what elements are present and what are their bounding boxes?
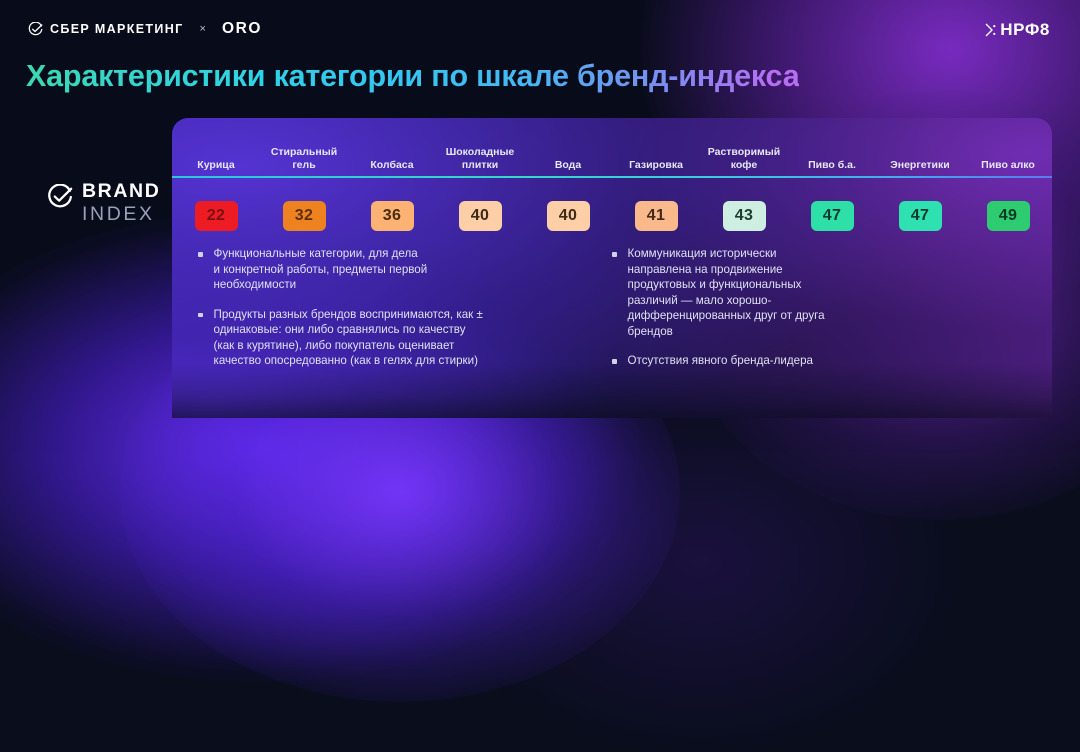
bullet-dot-icon — [612, 359, 617, 364]
category-label: Курица — [197, 159, 234, 172]
score-badge-cell: 43 — [700, 196, 788, 236]
score-badge-row: 22323640404143474749 — [172, 196, 1052, 236]
check-circle-icon — [47, 184, 73, 210]
slide-header: СБЕР МАРКЕТИНГ × ORO НРФ8 — [0, 0, 1080, 62]
score-badge-cell: 32 — [260, 196, 348, 236]
score-badge-cell: 22 — [172, 196, 260, 236]
category-header-cell: Стиральный гель — [260, 118, 348, 176]
category-label: Энергетики — [890, 159, 949, 172]
insights-column-left: Функциональные категории, для дела и кон… — [198, 246, 568, 383]
category-header-cell: Курица — [172, 118, 260, 176]
score-badge: 47 — [811, 201, 854, 231]
category-header-row: КурицаСтиральный гельКолбасаШоколадные п… — [172, 118, 1052, 176]
score-badge: 22 — [195, 201, 238, 231]
score-badge: 36 — [371, 201, 414, 231]
sber-marketing-logo: СБЕР МАРКЕТИНГ — [28, 22, 184, 37]
score-badge-cell: 47 — [788, 196, 876, 236]
category-header-cell: Пиво б.а. — [788, 118, 876, 176]
category-label: Пиво алко — [981, 159, 1035, 172]
insights-column-right: Коммуникация исторически направлена на п… — [612, 246, 982, 383]
bullet-dot-icon — [198, 313, 203, 318]
bullet-dot-icon — [198, 252, 203, 257]
category-label: Колбаса — [370, 159, 413, 172]
score-badge-cell: 40 — [524, 196, 612, 236]
category-header-cell: Пиво алко — [964, 118, 1052, 176]
score-badge: 49 — [987, 201, 1030, 231]
category-label: Пиво б.а. — [808, 159, 856, 172]
insight-bullet: Отсутствия явного бренда-лидера — [612, 353, 982, 369]
category-header-cell: Шоколадные плитки — [436, 118, 524, 176]
category-header-cell: Энергетики — [876, 118, 964, 176]
score-badge-cell: 40 — [436, 196, 524, 236]
category-label: Растворимый кофе — [708, 146, 780, 171]
category-header-cell: Колбаса — [348, 118, 436, 176]
brand-index-wordmark: BRAND INDEX — [82, 182, 160, 224]
oro-logo-label: ORO — [222, 20, 262, 38]
page-title: Характеристики категории по шкале бренд-… — [26, 59, 799, 94]
brand-bar: СБЕР МАРКЕТИНГ × ORO — [28, 20, 262, 38]
nrf-glyph-icon — [985, 23, 997, 37]
insight-bullet-text: Продукты разных брендов воспринимаются, … — [214, 307, 483, 369]
brand-index-logo: BRAND INDEX — [47, 182, 160, 224]
brand-index-panel: КурицаСтиральный гельКолбасаШоколадные п… — [172, 118, 1052, 418]
collab-cross-label: × — [195, 23, 211, 35]
insight-bullet-text: Функциональные категории, для дела и кон… — [214, 246, 428, 293]
sber-marketing-label: СБЕР МАРКЕТИНГ — [50, 22, 184, 36]
category-label: Вода — [555, 159, 581, 172]
check-circle-icon — [28, 22, 43, 37]
score-badge-cell: 41 — [612, 196, 700, 236]
brand-index-line2: INDEX — [82, 205, 160, 225]
score-badge-cell: 49 — [964, 196, 1052, 236]
score-badge: 47 — [899, 201, 942, 231]
brand-index-line1: BRAND — [82, 182, 160, 202]
category-header-cell: Газировка — [612, 118, 700, 176]
insight-bullet: Коммуникация исторически направлена на п… — [612, 246, 982, 339]
insights-columns: Функциональные категории, для дела и кон… — [198, 246, 1034, 383]
category-header-cell: Вода — [524, 118, 612, 176]
insight-bullet-text: Коммуникация исторически направлена на п… — [628, 246, 825, 339]
header-divider-line — [172, 176, 1052, 178]
score-badge: 43 — [723, 201, 766, 231]
insight-bullet: Функциональные категории, для дела и кон… — [198, 246, 568, 293]
bullet-dot-icon — [612, 252, 617, 257]
nrf8-label: НРФ8 — [1000, 20, 1050, 40]
score-badge-cell: 36 — [348, 196, 436, 236]
score-badge-cell: 47 — [876, 196, 964, 236]
insight-bullet: Продукты разных брендов воспринимаются, … — [198, 307, 568, 369]
nrf8-logo: НРФ8 — [985, 20, 1050, 40]
category-header-cell: Растворимый кофе — [700, 118, 788, 176]
score-badge: 40 — [459, 201, 502, 231]
insight-bullet-text: Отсутствия явного бренда-лидера — [628, 353, 814, 369]
score-badge: 41 — [635, 201, 678, 231]
category-label: Стиральный гель — [271, 146, 337, 171]
category-label: Шоколадные плитки — [446, 146, 515, 171]
score-badge: 32 — [283, 201, 326, 231]
category-label: Газировка — [629, 159, 683, 172]
score-badge: 40 — [547, 201, 590, 231]
